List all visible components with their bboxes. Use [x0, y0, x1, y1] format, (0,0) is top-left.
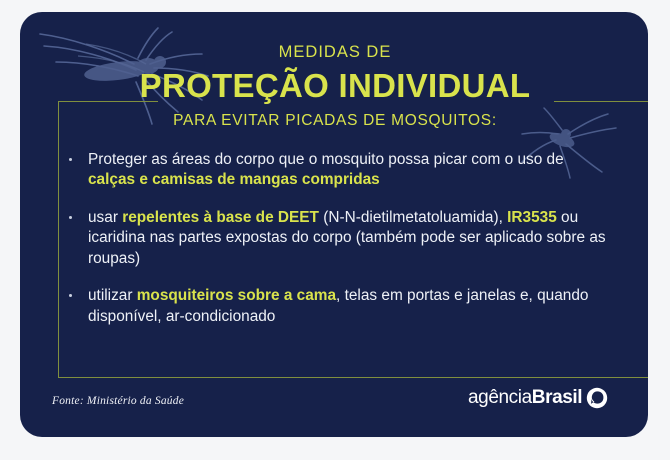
subtitle-text: PARA EVITAR PICADAS DE MOSQUITOS: [0, 112, 670, 130]
logo-word-brasil: Brasil [532, 387, 582, 409]
agencia-brasil-logo[interactable]: agência Brasil [468, 387, 608, 409]
list-item: Proteger as áreas do corpo que o mosquit… [64, 150, 609, 191]
bullet-dot-icon [69, 216, 72, 219]
circle-mark-icon [586, 387, 608, 409]
list-item-text: usar repelentes à base de DEET (N-N-diet… [88, 209, 606, 267]
logo-word-agencia: agência [468, 387, 532, 409]
source-credit: Fonte: Ministério da Saúde [52, 395, 184, 407]
kicker-text: MEDIDAS DE [0, 43, 670, 62]
page-title: PROTEÇÃO INDIVIDUAL [0, 68, 670, 104]
list-item-text: utilizar mosquiteiros sobre a cama, tela… [88, 287, 588, 324]
list-item: usar repelentes à base de DEET (N-N-diet… [64, 208, 609, 269]
list-item-text: Proteger as áreas do corpo que o mosquit… [88, 151, 564, 188]
list-item: utilizar mosquiteiros sobre a cama, tela… [64, 286, 609, 327]
bullet-dot-icon [69, 294, 72, 297]
measures-list: Proteger as áreas do corpo que o mosquit… [64, 150, 609, 327]
infographic-poster: MEDIDAS DE PROTEÇÃO INDIVIDUAL PARA EVIT… [0, 0, 670, 460]
bullet-dot-icon [69, 158, 72, 161]
